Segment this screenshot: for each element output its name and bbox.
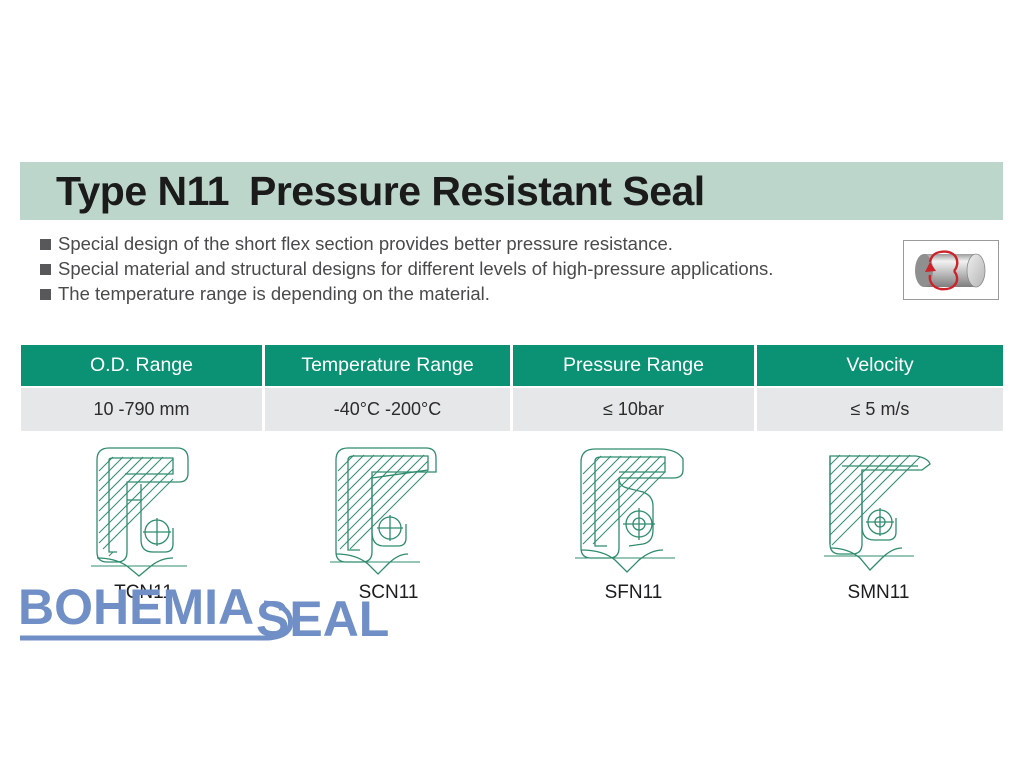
seal-variant-scn11: SCN11 bbox=[266, 440, 511, 620]
product-datasheet: Type N11Pressure Resistant Seal Special … bbox=[0, 0, 1024, 768]
bullet-square-icon bbox=[40, 239, 51, 250]
list-item: Special design of the short flex section… bbox=[40, 232, 890, 256]
cell-pressure: ≤ 10bar bbox=[513, 386, 757, 431]
seal-drawing-sfn11 bbox=[559, 440, 709, 580]
cell-velocity: ≤ 5 m/s bbox=[757, 386, 1003, 431]
seal-variant-gallery: TCN11 bbox=[21, 440, 1003, 620]
cell-temperature: -40°C -200°C bbox=[265, 386, 513, 431]
rotating-shaft-icon bbox=[903, 240, 999, 300]
seal-label: SFN11 bbox=[605, 582, 663, 604]
seal-label: SCN11 bbox=[359, 582, 419, 604]
seal-variant-tcn11: TCN11 bbox=[21, 440, 266, 620]
specification-table: O.D. Range Temperature Range Pressure Ra… bbox=[21, 345, 1003, 431]
table-row: 10 -790 mm -40°C -200°C ≤ 10bar ≤ 5 m/s bbox=[21, 386, 1003, 431]
feature-text: The temperature range is depending on th… bbox=[58, 282, 490, 306]
seal-drawing-scn11 bbox=[314, 440, 464, 580]
page-title-band: Type N11Pressure Resistant Seal bbox=[20, 162, 1003, 220]
bullet-square-icon bbox=[40, 289, 51, 300]
seal-label: TCN11 bbox=[114, 582, 173, 604]
list-item: Special material and structural designs … bbox=[40, 257, 890, 281]
bullet-square-icon bbox=[40, 264, 51, 275]
page-title-type: Type N11 bbox=[56, 168, 229, 214]
page-title: Type N11Pressure Resistant Seal bbox=[56, 168, 705, 215]
seal-variant-sfn11: SFN11 bbox=[511, 440, 756, 620]
seal-drawing-smn11 bbox=[804, 440, 954, 580]
feature-text: Special design of the short flex section… bbox=[58, 232, 673, 256]
seal-label: SMN11 bbox=[848, 582, 910, 604]
column-header-temperature: Temperature Range bbox=[265, 345, 513, 386]
column-header-velocity: Velocity bbox=[757, 345, 1003, 386]
feature-list: Special design of the short flex section… bbox=[40, 232, 890, 307]
seal-drawing-tcn11 bbox=[69, 440, 219, 580]
table-header-row: O.D. Range Temperature Range Pressure Ra… bbox=[21, 345, 1003, 386]
feature-text: Special material and structural designs … bbox=[58, 257, 773, 281]
column-header-pressure: Pressure Range bbox=[513, 345, 757, 386]
list-item: The temperature range is depending on th… bbox=[40, 282, 890, 306]
cell-od-range: 10 -790 mm bbox=[21, 386, 265, 431]
column-header-od-range: O.D. Range bbox=[21, 345, 265, 386]
page-title-name: Pressure Resistant Seal bbox=[249, 168, 705, 214]
seal-variant-smn11: SMN11 bbox=[756, 440, 1001, 620]
